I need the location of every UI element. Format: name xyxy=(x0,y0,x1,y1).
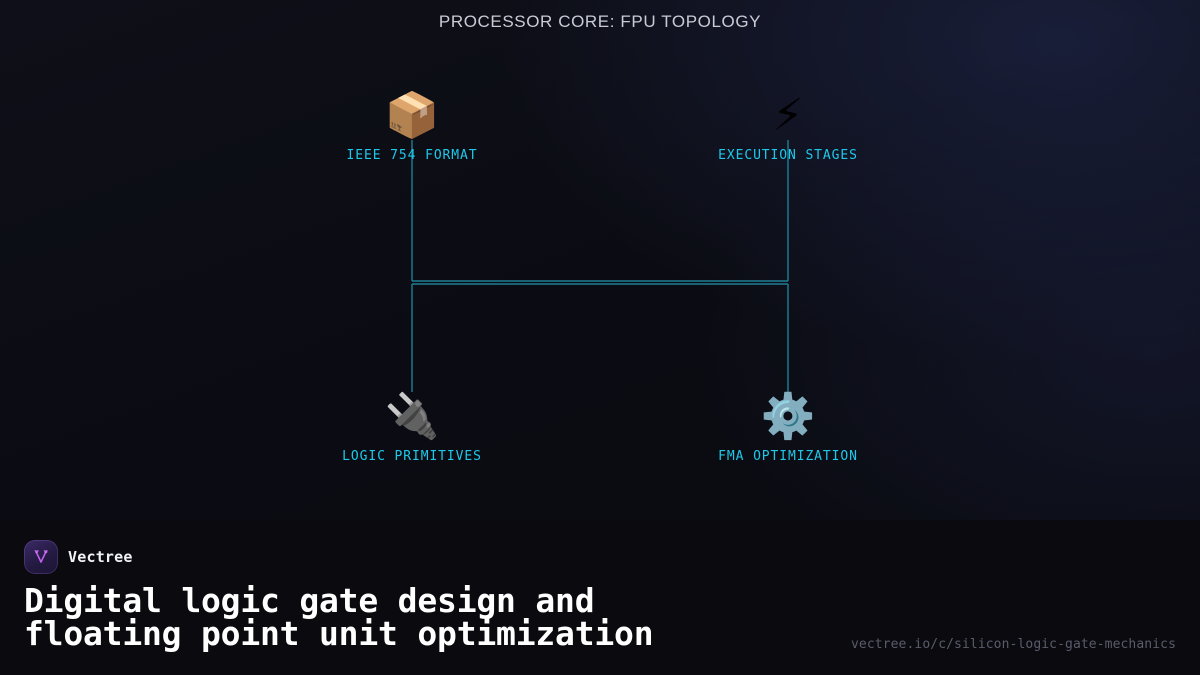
gear-icon: ⚙️ xyxy=(688,389,888,445)
headline-line-1: Digital logic gate design and xyxy=(24,584,784,617)
diagram-title: PROCESSOR CORE: FPU TOPOLOGY xyxy=(0,12,1200,32)
diagram-stage: PROCESSOR CORE: FPU TOPOLOGY 📦 IEEE 754 … xyxy=(0,0,1200,520)
lightning-bolt-icon: ⚡ xyxy=(688,88,888,144)
diagram-node-label: LOGIC PRIMITIVES xyxy=(312,449,512,464)
package-icon: 📦 xyxy=(312,88,512,144)
footer-bar: Vectree Digital logic gate design and fl… xyxy=(0,520,1200,675)
headline-line-2: floating point unit optimization xyxy=(24,617,784,650)
diagram-node-label: EXECUTION STAGES xyxy=(688,148,888,163)
brand-name: Vectree xyxy=(68,548,133,566)
slide-canvas: PROCESSOR CORE: FPU TOPOLOGY 📦 IEEE 754 … xyxy=(0,0,1200,675)
diagram-node-fma-optimization[interactable]: ⚙️ FMA OPTIMIZATION xyxy=(688,389,888,464)
vectree-logo-icon xyxy=(24,540,58,574)
brand-row: Vectree xyxy=(24,540,1176,574)
electric-plug-icon: 🔌 xyxy=(312,389,512,445)
diagram-node-label: FMA OPTIMIZATION xyxy=(688,449,888,464)
connector-lines xyxy=(0,0,1200,520)
diagram-node-execution-stages[interactable]: ⚡ EXECUTION STAGES xyxy=(688,88,888,163)
footer-url[interactable]: vectree.io/c/silicon-logic-gate-mechanic… xyxy=(851,637,1176,652)
diagram-node-ieee-754-format[interactable]: 📦 IEEE 754 FORMAT xyxy=(312,88,512,163)
diagram-node-label: IEEE 754 FORMAT xyxy=(312,148,512,163)
headline: Digital logic gate design and floating p… xyxy=(24,584,784,650)
diagram-node-logic-primitives[interactable]: 🔌 LOGIC PRIMITIVES xyxy=(312,389,512,464)
